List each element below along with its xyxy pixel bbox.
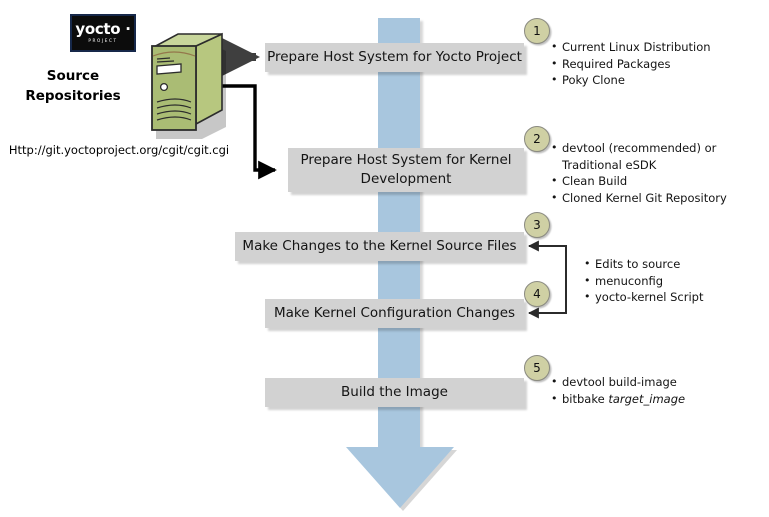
step-box-2-label: Prepare Host System for Kernel Developme…: [300, 151, 511, 189]
step-box-5-label: Build the Image: [341, 383, 448, 402]
list-item: devtool (recommended) or: [551, 140, 727, 157]
step-box-1[interactable]: Prepare Host System for Yocto Project: [265, 43, 524, 72]
source-label-line1: Source: [8, 66, 138, 86]
step-badge-4: 4: [524, 281, 550, 307]
diagram-canvas: yocto · PROJECT Source Repositories Http…: [0, 0, 769, 517]
list-item: Clean Build: [551, 173, 727, 190]
list-item-italic-text: target_image: [608, 392, 685, 406]
list-item: Cloned Kernel Git Repository: [551, 190, 727, 207]
source-repository-url: Http://git.yoctoproject.org/cgit/cgit.cg…: [0, 143, 238, 157]
step-box-4[interactable]: Make Kernel Configuration Changes: [265, 299, 524, 328]
list-item: Required Packages: [551, 56, 711, 73]
list-item: Poky Clone: [551, 72, 711, 89]
list-item: devtool build-image: [551, 374, 685, 391]
step-box-5[interactable]: Build the Image: [265, 378, 524, 407]
step-box-2-label-line1: Prepare Host System for Kernel: [300, 152, 511, 168]
step-box-4-label: Make Kernel Configuration Changes: [274, 304, 515, 323]
step-box-1-label: Prepare Host System for Yocto Project: [267, 48, 522, 67]
workflow-arrowhead-icon: [342, 444, 458, 512]
list-item: menuconfig: [584, 273, 704, 290]
step-badge-1: 1: [524, 18, 550, 44]
step-box-3-label: Make Changes to the Kernel Source Files: [242, 237, 516, 256]
step-badge-3: 3: [524, 212, 550, 238]
step-3-4-bullet-list: Edits to source menuconfig yocto-kernel …: [584, 256, 704, 306]
step-1-bullet-list: Current Linux Distribution Required Pack…: [551, 39, 711, 89]
list-item: Edits to source: [584, 256, 704, 273]
source-repositories-label: Source Repositories: [8, 66, 138, 106]
step-box-2-label-line2: Development: [361, 171, 452, 187]
yocto-logo-subtitle: PROJECT: [88, 39, 117, 43]
server-icon: [134, 32, 226, 140]
list-item: bitbake target_image: [551, 391, 685, 408]
list-item-text: bitbake: [562, 392, 608, 406]
list-item: yocto-kernel Script: [584, 289, 704, 306]
step-box-3[interactable]: Make Changes to the Kernel Source Files: [235, 232, 524, 261]
step-badge-5: 5: [524, 355, 550, 381]
yocto-logo-wordmark: yocto ·: [75, 22, 130, 37]
step-badge-2: 2: [524, 126, 550, 152]
yocto-logo: yocto · PROJECT: [70, 14, 136, 52]
step-box-2[interactable]: Prepare Host System for Kernel Developme…: [288, 148, 524, 192]
step-5-bullet-list: devtool build-image bitbake target_image: [551, 374, 685, 407]
step-2-bullet-list: devtool (recommended) or Traditional eSD…: [551, 140, 727, 206]
list-item-continuation: Traditional eSDK: [551, 157, 727, 174]
list-item: Current Linux Distribution: [551, 39, 711, 56]
source-label-line2: Repositories: [8, 86, 138, 106]
